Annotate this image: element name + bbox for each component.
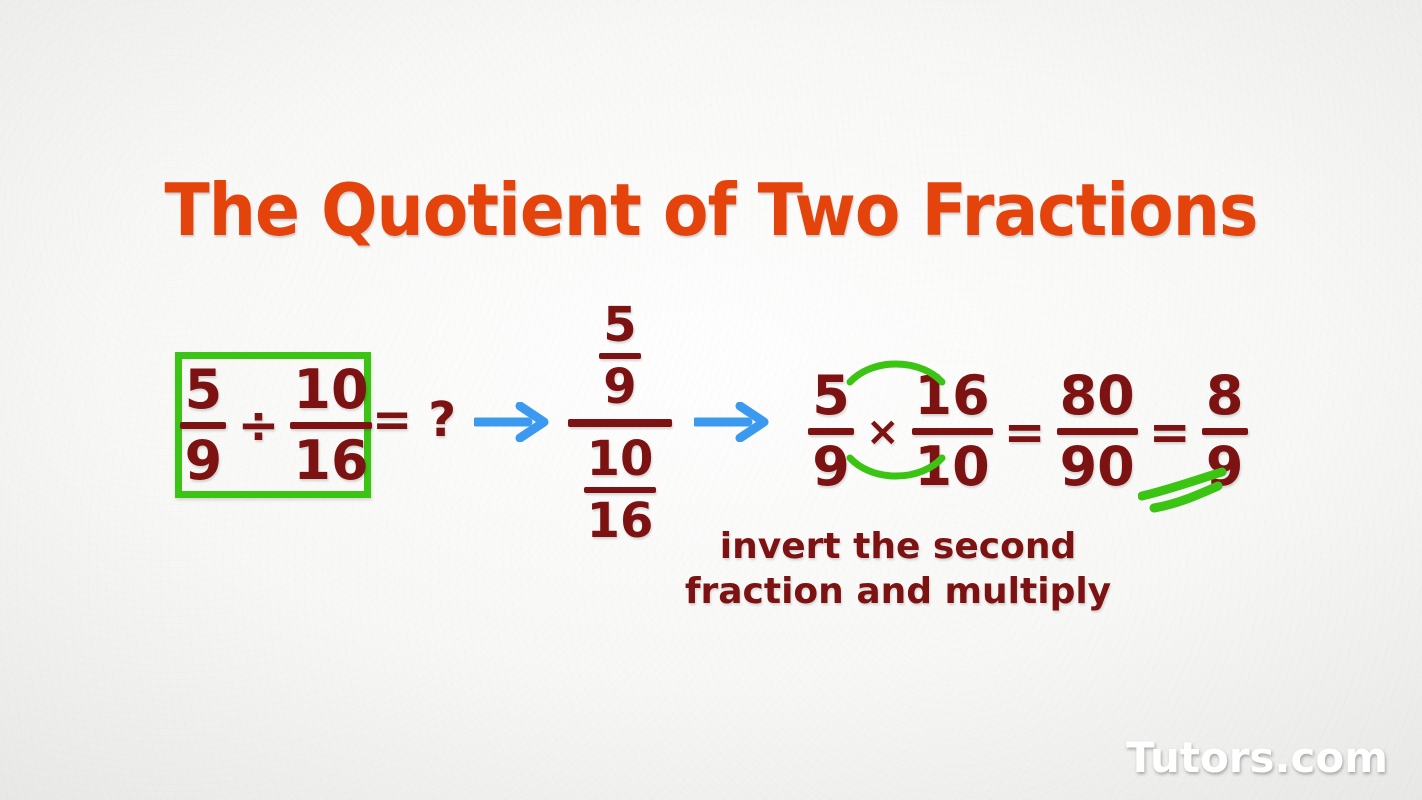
equals-sign-2: = bbox=[1138, 403, 1202, 461]
caption-text: invert the second fraction and multiply bbox=[648, 524, 1148, 614]
denominator: 90 bbox=[1057, 439, 1138, 495]
denominator: 16 bbox=[584, 496, 657, 546]
fraction-bar bbox=[912, 428, 993, 435]
denominator: 9 bbox=[1203, 439, 1247, 495]
numerator: 8 bbox=[1203, 368, 1247, 424]
fraction-bar bbox=[290, 422, 371, 429]
arrow-right-icon-2 bbox=[694, 402, 770, 442]
fraction-bar bbox=[1057, 428, 1138, 435]
equals-question-group: = ? bbox=[372, 392, 456, 448]
fraction-sixteen-tenths: 16 10 bbox=[912, 368, 993, 495]
fraction-ten-sixteenths: 10 16 bbox=[290, 362, 371, 489]
question-mark: ? bbox=[428, 392, 456, 448]
caption-line-1: invert the second bbox=[648, 524, 1148, 569]
numerator: 5 bbox=[182, 362, 226, 418]
denominator: 16 bbox=[290, 433, 371, 489]
numerator: 5 bbox=[809, 368, 853, 424]
main-fraction-bar bbox=[568, 419, 672, 427]
fraction-bar bbox=[1202, 428, 1248, 435]
slide-canvas: The Quotient of Two Fractions 5 9 ÷ 10 1… bbox=[0, 0, 1422, 800]
expression-invert-and-multiply: 5 9 × 16 10 = 80 90 = 8 9 bbox=[808, 368, 1248, 495]
page-title: The Quotient of Two Fractions bbox=[57, 168, 1365, 252]
complex-fraction-stack: 5 9 10 16 bbox=[568, 300, 672, 546]
division-operator: ÷ bbox=[226, 396, 290, 454]
expression-complex-fraction: 5 9 10 16 bbox=[560, 300, 680, 546]
fraction-bar bbox=[808, 428, 854, 435]
multiplication-operator: × bbox=[854, 409, 912, 455]
watermark-logo: Tutors.com bbox=[1126, 733, 1388, 782]
equals-sign-1: = bbox=[993, 403, 1057, 461]
denominator: 9 bbox=[182, 433, 226, 489]
denominator: 10 bbox=[912, 439, 993, 495]
numerator: 16 bbox=[912, 368, 993, 424]
numerator: 10 bbox=[584, 434, 657, 484]
denominator: 9 bbox=[809, 439, 853, 495]
numerator: 80 bbox=[1057, 368, 1138, 424]
denominator: 9 bbox=[600, 362, 639, 412]
numerator: 10 bbox=[290, 362, 371, 418]
caption-line-2: fraction and multiply bbox=[648, 569, 1148, 614]
fraction-eight-ninths: 8 9 bbox=[1202, 368, 1248, 495]
fraction-five-ninths: 5 9 bbox=[808, 368, 854, 495]
fraction-eighty-ninetieths: 80 90 bbox=[1057, 368, 1138, 495]
fraction-bottom-ten-sixteenths: 10 16 bbox=[584, 434, 657, 546]
equals-sign: = bbox=[372, 392, 412, 448]
expression-original: 5 9 ÷ 10 16 bbox=[186, 363, 366, 487]
fraction-top-five-ninths: 5 9 bbox=[599, 300, 641, 412]
fraction-five-ninths: 5 9 bbox=[180, 362, 226, 489]
arrow-right-icon-1 bbox=[474, 402, 550, 442]
fraction-bar bbox=[180, 422, 226, 429]
numerator: 5 bbox=[600, 300, 639, 350]
